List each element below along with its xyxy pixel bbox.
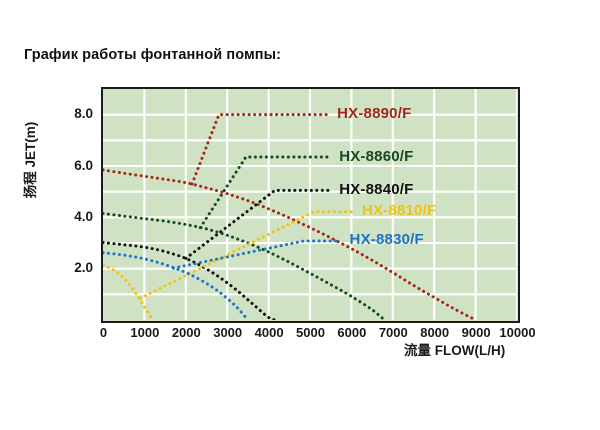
pump-performance-chart: График работы фонтанной помпы: 扬程 JET(m)… [0, 0, 600, 430]
plot-inner [103, 89, 518, 321]
plot-area [101, 87, 520, 323]
plot-svg [103, 89, 517, 320]
page-title: График работы фонтанной помпы: [24, 47, 281, 63]
legend-label-HX-8840/F: HX-8840/F [339, 181, 413, 198]
legend-label-HX-8830/F: HX-8830/F [350, 231, 424, 248]
x-tick-10000: 10000 [492, 325, 544, 340]
y-tick-8.0: 8.0 [53, 106, 93, 121]
legend-label-HX-8890/F: HX-8890/F [337, 105, 411, 122]
y-axis-title: 扬程 JET(m) [19, 105, 39, 215]
legend-label-HX-8810/F: HX-8810/F [362, 202, 436, 219]
x-axis-title: 流量 FLOW(L/H) [404, 339, 505, 359]
y-tick-4.0: 4.0 [53, 209, 93, 224]
y-tick-2.0: 2.0 [53, 260, 93, 275]
legend-label-HX-8860/F: HX-8860/F [339, 148, 413, 165]
series-HX-8840/F [103, 190, 331, 320]
y-tick-6.0: 6.0 [53, 158, 93, 173]
